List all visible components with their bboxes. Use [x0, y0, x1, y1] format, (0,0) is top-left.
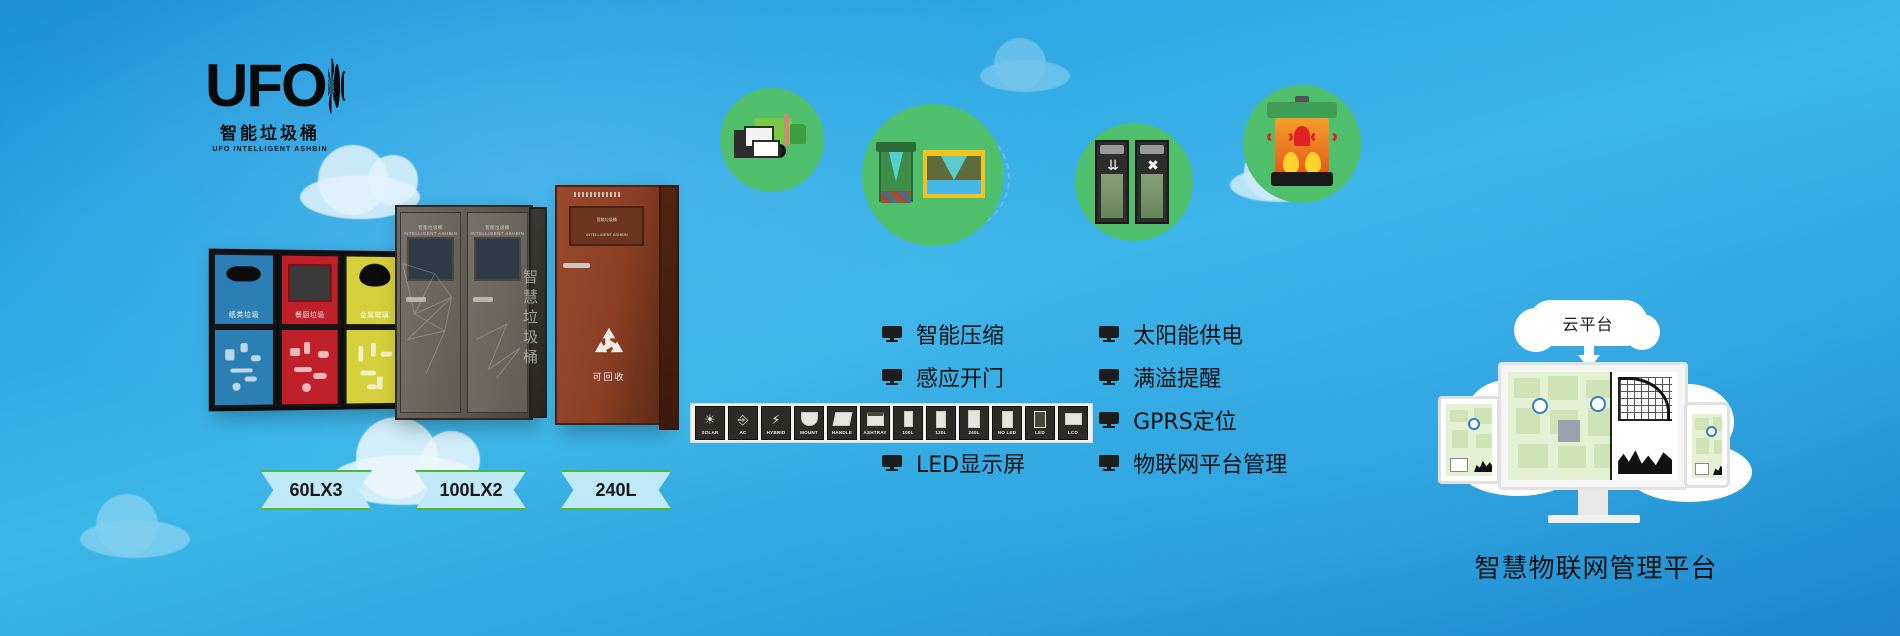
monitor-icon: [1099, 326, 1119, 342]
recycle-icon: [589, 324, 629, 364]
feature-item: 智能压缩: [882, 318, 1025, 350]
product-lineup: 纸类垃圾 餐厨垃圾: [195, 195, 715, 505]
led-panel-icon: [1028, 409, 1052, 429]
cloud-platform-badge: 云平台: [1528, 300, 1648, 346]
monitor-icon: [882, 369, 902, 385]
capacity-label: 240L: [560, 470, 672, 510]
option-ashtray[interactable]: ASHTRAY: [860, 406, 890, 440]
logo-wordmark: UFO: [205, 57, 326, 115]
screen-text-en: INTELLIGENT ASHBIN: [571, 232, 642, 238]
gear-ring-icon: [328, 58, 335, 114]
option-mount[interactable]: MOUNT: [794, 406, 824, 440]
display-panel: [289, 264, 332, 302]
phone-icon: [1684, 402, 1730, 488]
monitor-icon: [882, 326, 902, 342]
monitor-icon: [1099, 369, 1119, 385]
plug-icon: ⎆: [731, 409, 755, 429]
feature-label: 太阳能供电: [1133, 318, 1243, 350]
bin-fire-alarm-icon: [1265, 102, 1339, 186]
tablet-icon: [1438, 396, 1500, 484]
bin-vertical-text: 智慧垃圾桶: [519, 269, 540, 369]
option-120l[interactable]: 120L: [926, 406, 956, 440]
dual-smart-compacting-bin: 智能垃圾桶 INTELLIGENT ASHBIN 智能垃圾桶 INTELLIGE…: [395, 205, 533, 420]
feature-item: GPRS定位: [1099, 404, 1287, 436]
iot-platform-illustration: 云平台: [1430, 300, 1760, 590]
screen-text-cn: 智能垃圾桶: [571, 217, 642, 223]
capacity-label-group: 60LX3 100LX2 240L: [260, 470, 680, 518]
garbage-truck-with-devices-icon: [734, 114, 810, 166]
option-label: HYBRID: [767, 430, 786, 435]
bin-compartment-kitchen: 餐厨垃圾: [279, 253, 344, 408]
logo-english-name: UFO INTELLIGENT ASHBIN: [205, 146, 335, 153]
monitor-icon: [1099, 412, 1119, 428]
option-ac[interactable]: ⎆ AC: [728, 406, 758, 440]
compartment-label: 纸类垃圾: [215, 309, 273, 319]
chart-view: [1610, 372, 1678, 480]
feature-label: LED显示屏: [916, 447, 1025, 479]
compartment-label: 餐厨垃圾: [282, 310, 338, 320]
bin-door-left: 智能垃圾桶 INTELLIGENT ASHBIN: [400, 212, 461, 413]
feature-item: 物联网平台管理: [1099, 447, 1287, 479]
option-100l[interactable]: 100L: [893, 406, 923, 440]
option-label: ASHTRAY: [863, 430, 886, 435]
drop-slot-icon: [359, 263, 390, 286]
option-lcd[interactable]: LCD: [1058, 406, 1088, 440]
option-solar[interactable]: ☀ SOLAR: [695, 406, 725, 440]
bin-side-panel: [659, 185, 679, 430]
feature-label: 感应开门: [916, 361, 1004, 393]
option-led[interactable]: LED: [1025, 406, 1055, 440]
feature-item: 感应开门: [882, 361, 1025, 393]
option-label: LED: [1035, 430, 1045, 435]
collection-fleet-circle: [720, 88, 824, 192]
option-label: NO LED: [998, 430, 1017, 435]
bin-240l-icon: [962, 409, 986, 429]
two-bins-compaction-icon: ⇊ ✖: [1095, 140, 1173, 224]
option-label: 240L: [968, 430, 979, 435]
feature-column-left: 智能压缩 感应开门 WiFi热点 LED显示屏: [882, 318, 1025, 479]
brand-logo: UFO 智能垃圾桶 UFO INTELLIGENT ASHBIN: [205, 55, 335, 153]
option-hybrid[interactable]: ⚡ HYBRID: [761, 406, 791, 440]
option-label: LCD: [1068, 430, 1078, 435]
option-240l[interactable]: 240L: [959, 406, 989, 440]
feature-label: 物联网平台管理: [1133, 447, 1287, 479]
single-recycling-bin: 智能垃圾桶 INTELLIGENT ASHBIN 可回收: [555, 185, 663, 425]
bin-100l-icon: [896, 409, 920, 429]
feature-item: LED显示屏: [882, 447, 1025, 479]
vent-grille: [574, 192, 622, 197]
feature-label: GPRS定位: [1133, 404, 1237, 436]
fill-level-sensor-circle: [862, 104, 1004, 246]
capacity-label: 100LX2: [415, 470, 527, 510]
feature-list: 智能压缩 感应开门 WiFi热点 LED显示屏 太阳能供电 满溢提醒: [882, 318, 1287, 479]
compaction-circle: ⇊ ✖: [1075, 123, 1193, 241]
bin-120l-icon: [929, 409, 953, 429]
three-compartment-sorting-bin: 纸类垃圾 餐厨垃圾: [209, 249, 408, 412]
option-label: AC: [739, 430, 746, 435]
fire-alarm-circle: [1243, 85, 1361, 203]
capacity-label: 60LX3: [260, 470, 372, 510]
ashtray-icon: [863, 409, 887, 429]
wall-mount-icon: [797, 409, 821, 429]
polygon-graphic: [401, 213, 460, 382]
monitor-stand: [1578, 490, 1608, 516]
feature-item: 太阳能供电: [1099, 318, 1287, 350]
monitor-icon: [1099, 455, 1119, 471]
monitor-icon: [882, 455, 902, 471]
recycle-mark: 可回收: [586, 324, 632, 383]
option-no-led[interactable]: NO LED: [992, 406, 1022, 440]
option-label: HANDLE: [832, 430, 852, 435]
recycle-label: 可回收: [586, 370, 632, 383]
cloud-decoration: [980, 60, 1070, 92]
lcd-screen-icon: [1061, 409, 1085, 429]
feature-label: 满溢提醒: [1133, 361, 1221, 393]
option-label: SOLAR: [701, 430, 718, 435]
display-screen: 智能垃圾桶 INTELLIGENT ASHBIN: [569, 206, 644, 246]
feature-item: 满溢提醒: [1099, 361, 1287, 393]
compartment-label: 金属玻璃: [347, 310, 402, 320]
lightning-icon: ⚡: [764, 409, 788, 429]
feature-label: 智能压缩: [916, 318, 1004, 350]
handle-icon: [830, 409, 854, 429]
monitor-base: [1548, 515, 1640, 523]
logo-chinese-name: 智能垃圾桶: [205, 119, 335, 144]
option-label: 100L: [902, 430, 913, 435]
sun-icon: ☀: [698, 409, 722, 429]
promo-banner: UFO 智能垃圾桶 UFO INTELLIGENT ASHBIN 纸类垃圾: [0, 0, 1900, 636]
handle-icon: [563, 263, 590, 268]
feature-column-right: 太阳能供电 满溢提醒 GPRS定位 物联网平台管理: [1099, 318, 1287, 479]
bin-compartment-paper: 纸类垃圾: [212, 252, 279, 409]
map-view: [1508, 372, 1610, 480]
option-icon-strip: ☀ SOLAR ⎆ AC ⚡ HYBRID MOUNT HANDLE ASHTR…: [690, 403, 1093, 443]
platform-title: 智慧物联网管理平台: [1426, 548, 1766, 585]
monitor-icon: [1498, 362, 1688, 490]
cloud-platform-label: 云平台: [1562, 311, 1613, 335]
option-label: MOUNT: [800, 430, 818, 435]
option-handle[interactable]: HANDLE: [827, 406, 857, 440]
cloud-decoration: [80, 520, 190, 558]
option-label: 120L: [935, 430, 946, 435]
bin-ultrasonic-sensor-icon: [879, 144, 987, 206]
no-led-icon: [995, 409, 1019, 429]
drop-slot-icon: [227, 266, 262, 281]
logo-mark: UFO: [205, 55, 335, 117]
